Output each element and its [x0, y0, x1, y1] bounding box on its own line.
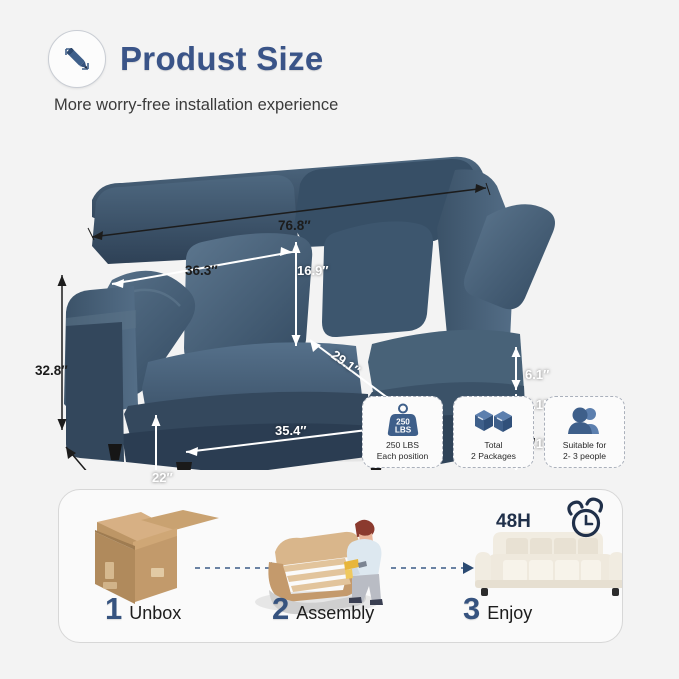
sofa-base-left	[122, 423, 374, 470]
packages-icon	[472, 403, 516, 437]
throw-pillow-center	[322, 221, 433, 337]
people-icon	[564, 403, 606, 437]
badge-packages-line2: 2 Packages	[471, 451, 516, 462]
pencil-ruler-icon	[48, 30, 106, 88]
badge-people-line1: Suitable for	[563, 440, 606, 451]
step-2-label: 2 Assembly	[272, 593, 374, 624]
badge-weight-line2: Each position	[377, 451, 429, 462]
badge-packages-text: Total 2 Packages	[471, 440, 516, 461]
open-cardboard-box-icon	[95, 510, 219, 604]
dimension-overall-height: 32.8″	[35, 363, 68, 378]
finished-sofa-icon	[475, 532, 622, 596]
dimension-back-height: 16.9″	[297, 263, 329, 278]
badge-weight-text: 250 LBS Each position	[377, 440, 429, 461]
badge-weight-line1: 250 LBS	[377, 440, 429, 451]
badge-weight-capacity: 250 LBS 250 LBS Each position	[362, 396, 443, 468]
page-title: Produst Size	[120, 40, 323, 78]
dimension-backrest-width: 36.3″	[185, 263, 218, 278]
weight-250lbs-icon: 250 LBS	[385, 403, 421, 437]
dimension-overall-width: 76.8″	[278, 218, 311, 233]
title-row: Produst Size	[48, 30, 648, 88]
assembly-steps-panel: 48H 1 Unbox 2 Assembly 3 Enjoy	[58, 489, 623, 643]
alarm-clock-icon	[569, 499, 602, 535]
step-1-number: 1	[105, 593, 122, 624]
step-1-label: 1 Unbox	[105, 593, 181, 624]
step-3-label: 3 Enjoy	[463, 593, 532, 624]
badge-packages: Total 2 Packages	[453, 396, 534, 468]
delivery-time-badge: 48H	[496, 511, 531, 533]
infographic-root: Produst Size More worry-free installatio…	[0, 0, 679, 679]
sofa-leg-front-left	[176, 462, 192, 470]
dimension-seat-width: 35.4″	[275, 423, 307, 438]
step-2-number: 2	[272, 593, 289, 624]
dimension-cushion-top: 6.1″	[525, 367, 549, 382]
step-3-word: Enjoy	[487, 603, 532, 624]
delivery-time-label: 48H	[496, 511, 531, 533]
arrow-assembly-to-enjoy	[391, 562, 474, 574]
info-badges: 250 LBS 250 LBS Each position	[362, 396, 625, 468]
badge-packages-line1: Total	[471, 440, 516, 451]
dimension-seat-height: 22″	[152, 470, 173, 485]
weight-unit: LBS	[394, 426, 411, 435]
step-2-word: Assembly	[296, 603, 374, 624]
badge-people-text: Suitable for 2- 3 people	[563, 440, 606, 461]
badge-capacity-people: Suitable for 2- 3 people	[544, 396, 625, 468]
step-3-number: 3	[463, 593, 480, 624]
step-1-word: Unbox	[129, 603, 181, 624]
badge-people-line2: 2- 3 people	[563, 451, 606, 462]
